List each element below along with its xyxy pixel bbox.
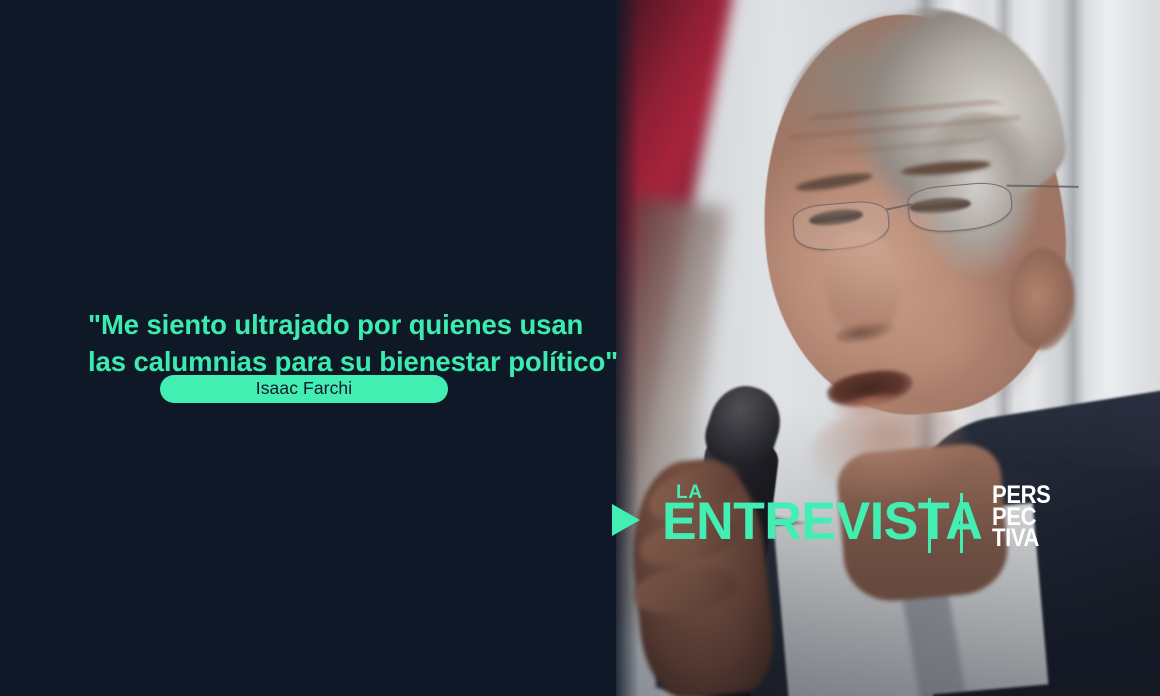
speaker-badge: Isaac Farchi (160, 375, 448, 403)
network-logo: PERS PEC TIVA (992, 485, 1051, 550)
divider-bar (928, 498, 931, 553)
quote-line-1: "Me siento ultrajado por quienes usan (88, 307, 558, 344)
glasses-temple-arm (1007, 185, 1079, 188)
divider-bar (960, 493, 963, 553)
speaker-name: Isaac Farchi (256, 380, 353, 398)
interview-photo (613, 0, 1160, 696)
photo-content (613, 0, 1160, 696)
social-card: "Me siento ultrajado por quienes usan la… (0, 0, 1160, 696)
network-logo-line-3: TIVA (992, 528, 1051, 550)
show-title: ENTREVISTA (662, 495, 982, 548)
brand-lockup: LA ENTREVISTA PERS PEC TIVA (610, 484, 1080, 560)
lens-right (906, 180, 1014, 235)
quote-text: "Me siento ultrajado por quienes usan la… (88, 307, 558, 381)
quote-panel: "Me siento ultrajado por quienes usan la… (0, 0, 616, 696)
play-triangle-icon (612, 504, 640, 536)
